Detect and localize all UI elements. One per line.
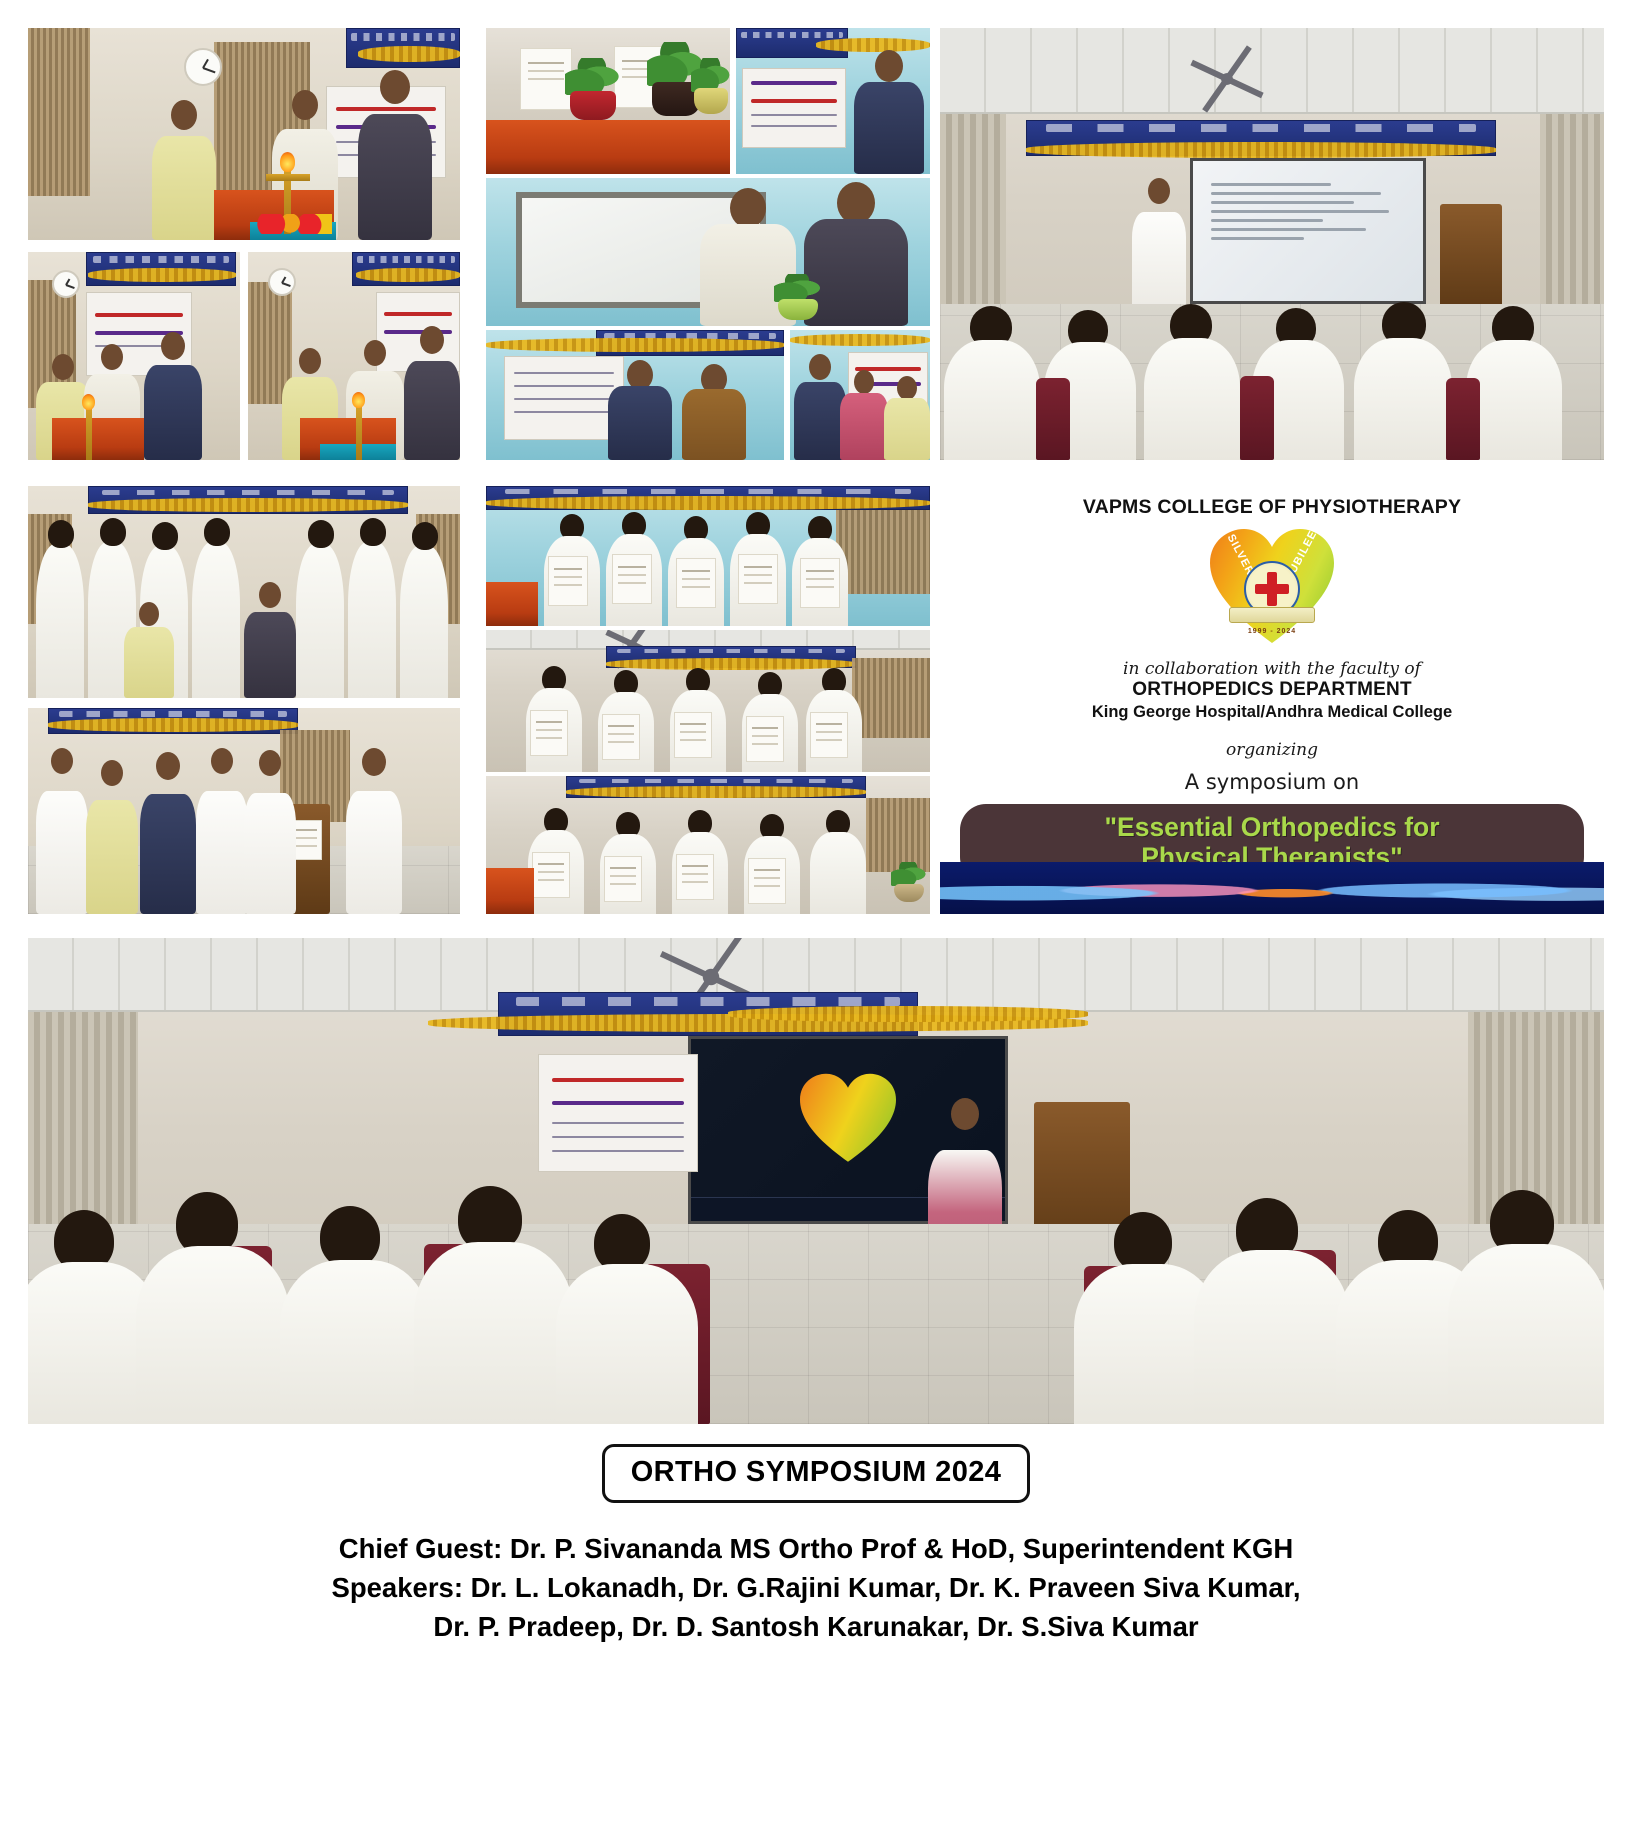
silver-jubilee-heart-logo: SILVER JUBILEE 1999 - 2024 — [1208, 527, 1336, 645]
photo-faculty-seated-podium: faculty-seated-with-students-podium — [28, 708, 460, 914]
photo-memento-presentation-group: memento-presentation-group — [790, 330, 930, 460]
photo-certificate-group-1: certificate-distribution-group-1 — [486, 486, 930, 626]
poster-symposium-on: A symposium on — [1185, 770, 1359, 794]
poster-department: ORTHOPEDICS DEPARTMENT — [1132, 679, 1412, 701]
audience-seating — [28, 1114, 1604, 1424]
speakers-line-2: Dr. P. Pradeep, Dr. D. Santosh Karunakar… — [0, 1607, 1632, 1646]
chief-guest-line: Chief Guest: Dr. P. Sivananda MS Ortho P… — [0, 1529, 1632, 1568]
photo-certificate-group-3: certificate-distribution-group-3 — [486, 776, 930, 914]
poster-page: lamp-lighting-inauguration-wide lamp-lig… — [0, 0, 1632, 1828]
poster-college-name: VAPMS COLLEGE OF PHYSIOTHERAPY — [1083, 496, 1461, 519]
logo-years: 1999 - 2024 — [1248, 628, 1296, 635]
photo-speaker-receiving-memento: speaker-receiving-plant-memento — [736, 28, 930, 174]
medical-cross-icon — [1255, 572, 1289, 606]
photo-group-students-faculty: group-photo-students-and-faculty — [28, 486, 460, 698]
photo-certificate-group-2: certificate-distribution-group-2 — [486, 630, 930, 772]
poster-organizing-word: organizing — [1226, 740, 1318, 760]
poster-collaboration-line: in collaboration with the faculty of — [1123, 659, 1421, 679]
photo-lamp-lighting-close-left: lamp-lighting-close-left — [28, 252, 240, 460]
photo-plant-mementos-table: potted-plant-mementos-on-table — [486, 28, 730, 174]
logo-ribbon — [1229, 607, 1315, 623]
ortho-symposium-badge: ORTHO SYMPOSIUM 2024 — [602, 1444, 1031, 1503]
photo-main-auditorium-session: main-auditorium-session-wide-shot — [28, 938, 1604, 1424]
photo-lamp-lighting-wide: lamp-lighting-inauguration-wide — [28, 28, 460, 240]
photo-lamp-lighting-close-right: lamp-lighting-close-right — [248, 252, 460, 460]
speakers-line-1: Speakers: Dr. L. Lokanadh, Dr. G.Rajini … — [0, 1568, 1632, 1607]
event-poster: VAPMS COLLEGE OF PHYSIOTHERAPY SILVER JU… — [940, 480, 1604, 914]
poster-hospital: King George Hospital/Andhra Medical Coll… — [1092, 703, 1452, 722]
photo-two-doctors-plant-memento: two-doctors-handing-plant-memento — [486, 178, 930, 326]
footer: ORTHO SYMPOSIUM 2024 Chief Guest: Dr. P.… — [0, 1444, 1632, 1646]
anatomy-xray-band — [940, 862, 1604, 914]
poster-title-line1: "Essential Orthopedics for — [970, 813, 1574, 843]
photo-speakers-presentation-board: speakers-beside-presentation-board — [486, 330, 784, 460]
photo-lecture-hall-audience: lecture-hall-audience-with-presenter — [940, 28, 1604, 460]
footer-credits: Chief Guest: Dr. P. Sivananda MS Ortho P… — [0, 1529, 1632, 1646]
